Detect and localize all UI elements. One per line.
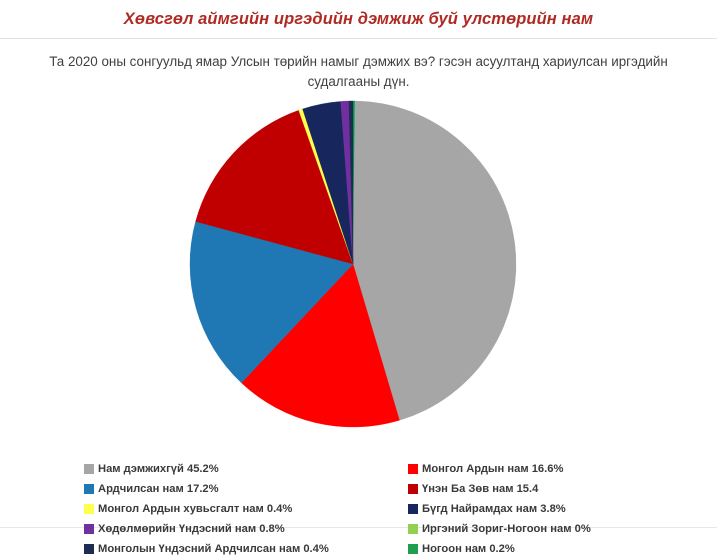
legend-swatch-icon bbox=[408, 544, 418, 554]
legend-swatch-icon bbox=[84, 524, 94, 534]
legend-item[interactable]: Монгол Ардын нам 16.6% bbox=[408, 459, 591, 478]
legend-column-right: Монгол Ардын нам 16.6% Үнэн Ба Зөв нам 1… bbox=[408, 459, 591, 559]
legend-item-label: Ногоон нам 0.2% bbox=[422, 543, 515, 555]
legend-item[interactable]: Ардчилсан нам 17.2% bbox=[84, 479, 329, 498]
page-header: Хөвсгөл аймгийн иргэдийн дэмжиж буй улст… bbox=[0, 0, 717, 38]
pie-chart-area bbox=[0, 92, 717, 427]
legend-item-label: Ардчилсан нам 17.2% bbox=[98, 483, 219, 495]
legend-item-label: Бүгд Найрамдах нам 3.8% bbox=[422, 503, 566, 515]
legend-item[interactable]: Ногоон нам 0.2% bbox=[408, 539, 591, 558]
legend-swatch-icon bbox=[408, 504, 418, 514]
chart-card: Та 2020 оны сонгуульд ямар Улсын төрийн … bbox=[0, 39, 717, 528]
legend-item-label: Монгол Ардын нам 16.6% bbox=[422, 463, 563, 475]
legend-item-label: Үнэн Ба Зөв нам 15.4 bbox=[422, 483, 538, 495]
legend-item[interactable]: Үнэн Ба Зөв нам 15.4 bbox=[408, 479, 591, 498]
legend-swatch-icon bbox=[84, 484, 94, 494]
legend-item-label: Монгол Ардын хувьсгалт нам 0.4% bbox=[98, 503, 292, 515]
legend-item[interactable]: Монголын Үндэсний Ардчилсан нам 0.4% bbox=[84, 539, 329, 558]
legend-item-label: Хөдөлмөрийн Үндэсний нам 0.8% bbox=[98, 523, 285, 535]
legend-swatch-icon bbox=[84, 544, 94, 554]
legend-swatch-icon bbox=[408, 464, 418, 474]
legend-item-label: Иргэний Зориг-Ногоон нам 0% bbox=[422, 523, 591, 535]
chart-subtitle: Та 2020 оны сонгуульд ямар Улсын төрийн … bbox=[0, 39, 717, 92]
legend-item-label: Нам дэмжихгүй 45.2% bbox=[98, 463, 219, 475]
pie-chart-svg bbox=[188, 99, 518, 429]
chart-legend: Нам дэмжихгүй 45.2% Ардчилсан нам 17.2% … bbox=[0, 459, 717, 559]
legend-item[interactable]: Бүгд Найрамдах нам 3.8% bbox=[408, 499, 591, 518]
legend-swatch-icon bbox=[408, 524, 418, 534]
pie-slice-group bbox=[190, 101, 516, 427]
chart-page: Хөвсгөл аймгийн иргэдийн дэмжиж буй улст… bbox=[0, 0, 717, 528]
legend-item[interactable]: Монгол Ардын хувьсгалт нам 0.4% bbox=[84, 499, 329, 518]
legend-item[interactable]: Хөдөлмөрийн Үндэсний нам 0.8% bbox=[84, 519, 329, 538]
legend-column-left: Нам дэмжихгүй 45.2% Ардчилсан нам 17.2% … bbox=[84, 459, 329, 559]
legend-item[interactable]: Нам дэмжихгүй 45.2% bbox=[84, 459, 329, 478]
legend-swatch-icon bbox=[84, 504, 94, 514]
legend-item[interactable]: Иргэний Зориг-Ногоон нам 0% bbox=[408, 519, 591, 538]
legend-swatch-icon bbox=[84, 464, 94, 474]
pie-chart bbox=[188, 99, 518, 429]
legend-swatch-icon bbox=[408, 484, 418, 494]
page-title: Хөвсгөл аймгийн иргэдийн дэмжиж буй улст… bbox=[124, 10, 593, 29]
legend-item-label: Монголын Үндэсний Ардчилсан нам 0.4% bbox=[98, 543, 329, 555]
